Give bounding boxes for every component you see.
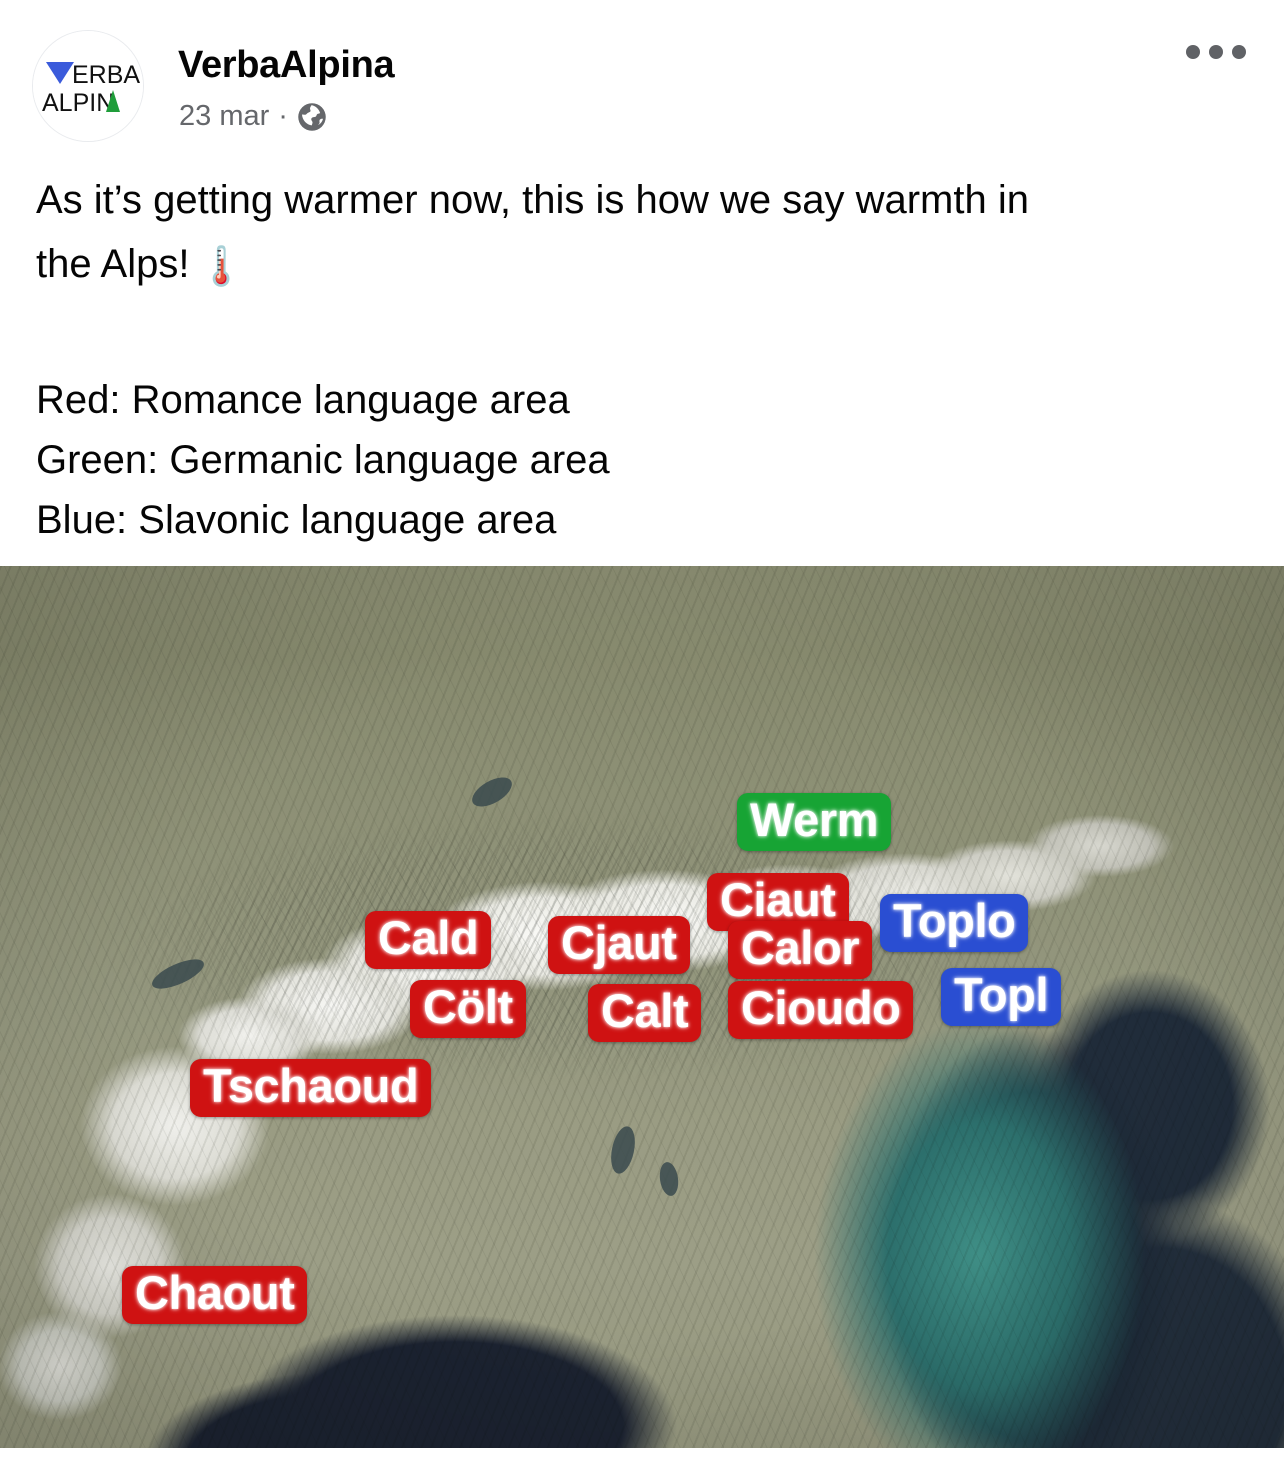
map-label-chaout: Chaout <box>122 1266 307 1324</box>
more-options-button[interactable] <box>1186 38 1246 66</box>
svg-text:ERBA: ERBA <box>72 61 140 89</box>
legend-item-romance: Red: Romance language area <box>36 370 610 430</box>
alps-map-image[interactable]: WermCiautToploCaldCjautCalorToplCöltCalt… <box>0 566 1284 1448</box>
post-meta: 23 mar · <box>179 100 327 133</box>
meta-separator: · <box>278 102 288 131</box>
language-legend: Red: Romance language area Green: German… <box>36 370 610 550</box>
map-label-werm: Werm <box>737 793 891 851</box>
post-body-line-1: As it’s getting warmer now, this is how … <box>36 178 1029 222</box>
map-label-calor: Calor <box>728 921 872 979</box>
ellipsis-dot <box>1232 45 1246 59</box>
map-label-cioudo: Cioudo <box>728 981 913 1039</box>
author-name[interactable]: VerbaAlpina <box>178 44 394 87</box>
map-label-calt: Calt <box>588 984 701 1042</box>
ellipsis-dot <box>1186 45 1200 59</box>
post-header: ERBA ALPIN VerbaAlpina 23 mar · <box>0 0 1284 160</box>
thermometer-emoji-icon: 🌡️ <box>197 246 244 288</box>
globe-icon[interactable] <box>297 102 327 132</box>
legend-item-slavonic: Blue: Slavonic language area <box>36 490 610 550</box>
avatar[interactable]: ERBA ALPIN <box>32 30 144 142</box>
post-timestamp[interactable]: 23 mar <box>179 100 269 133</box>
ellipsis-dot <box>1209 45 1223 59</box>
facebook-post: ERBA ALPIN VerbaAlpina 23 mar · As it’s … <box>0 0 1284 1460</box>
map-label-tschaoud: Tschaoud <box>190 1059 431 1117</box>
map-label-cölt: Cölt <box>410 980 526 1038</box>
map-label-topl: Topl <box>941 968 1061 1026</box>
verba-alpina-logo-icon: ERBA ALPIN <box>33 31 144 142</box>
map-label-toplo: Toplo <box>880 894 1028 952</box>
map-label-cjaut: Cjaut <box>548 916 690 974</box>
legend-item-germanic: Green: Germanic language area <box>36 430 610 490</box>
svg-text:ALPIN: ALPIN <box>42 89 114 117</box>
post-body-text: As it’s getting warmer now, this is how … <box>36 168 1226 299</box>
post-body-line-2: the Alps! <box>36 242 189 286</box>
map-label-cald: Cald <box>365 911 491 969</box>
